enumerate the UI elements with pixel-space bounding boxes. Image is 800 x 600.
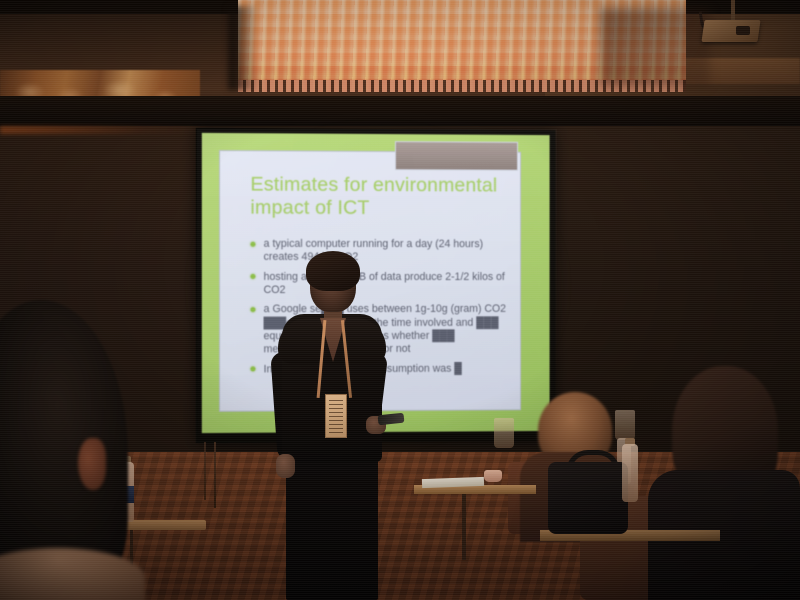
water-bottle-right: [622, 444, 638, 502]
chandelier-shadow: [600, 8, 710, 86]
ceiling-projector: [701, 20, 760, 42]
projector-lens: [736, 26, 750, 35]
slide-title: Estimates for environmental impact of IC…: [250, 173, 508, 220]
drinking-glass-1: [494, 418, 514, 448]
slide-header-box: [395, 141, 518, 171]
bullet-dot-icon: [250, 274, 255, 279]
presenter-skirt: [286, 452, 378, 600]
bullet-dot-icon: [250, 307, 255, 312]
screen-stand-leg: [214, 442, 216, 508]
drinking-glass-2: [615, 410, 635, 440]
presenter-hair: [306, 251, 360, 291]
projector-mount-pole: [731, 0, 735, 22]
table-leg: [462, 494, 466, 560]
handbag: [548, 462, 628, 534]
ceiling-soffit: [0, 96, 800, 130]
foreground-ear: [78, 438, 106, 490]
bullet-dot-icon: [250, 241, 255, 246]
screen-stand-leg: [204, 442, 206, 500]
chandelier-edge-fade: [228, 6, 258, 90]
presenter-left-hand: [276, 454, 295, 478]
conference-room-photo: Estimates for environmental impact of IC…: [0, 0, 800, 600]
cup: [484, 470, 502, 482]
lanyard-badge: [325, 394, 347, 438]
bullet-dot-icon: [250, 367, 255, 372]
presenter-speaker: [268, 256, 390, 600]
